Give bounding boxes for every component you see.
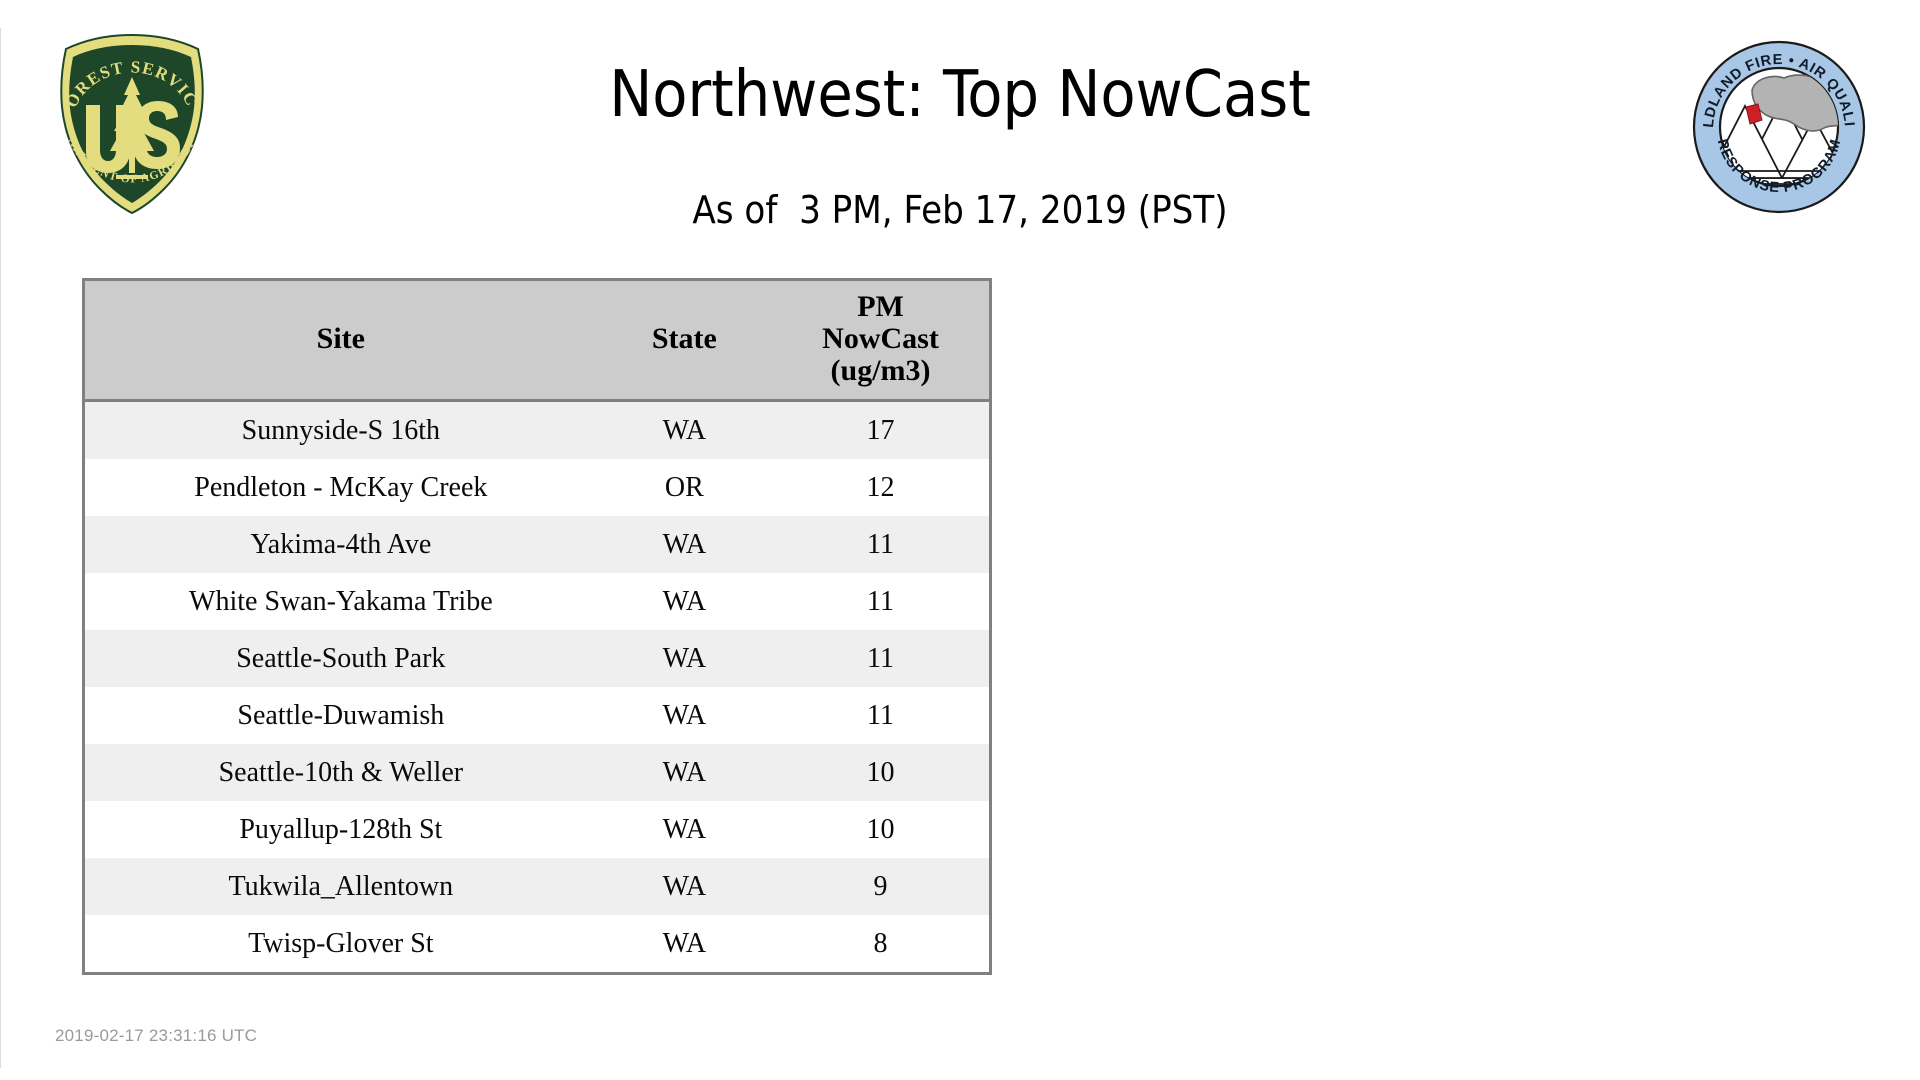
nowcast-table: Site State PM NowCast (ug/m3) Sunnyside-… (85, 281, 989, 972)
nowcast-table-container: Site State PM NowCast (ug/m3) Sunnyside-… (82, 278, 992, 975)
cell-state: WA (597, 858, 772, 915)
page-edge-line (0, 28, 1, 1068)
cell-pm-nowcast: 11 (772, 516, 989, 573)
table-row[interactable]: Puyallup-128th St WA 10 (85, 801, 989, 858)
table-row[interactable]: Seattle-Duwamish WA 11 (85, 687, 989, 744)
cell-site: Puyallup-128th St (85, 801, 597, 858)
table-row[interactable]: Seattle-South Park WA 11 (85, 630, 989, 687)
cell-pm-nowcast: 12 (772, 459, 989, 516)
cell-site: Seattle-10th & Weller (85, 744, 597, 801)
column-header-site-line-1: Site (85, 323, 597, 355)
cell-state: WA (597, 516, 772, 573)
cell-site: Seattle-Duwamish (85, 687, 597, 744)
table-row[interactable]: Twisp-Glover St WA 8 (85, 915, 989, 972)
cell-state: WA (597, 801, 772, 858)
cell-state: WA (597, 401, 772, 460)
column-header-pm-nowcast[interactable]: PM NowCast (ug/m3) (772, 281, 989, 401)
cell-state: WA (597, 915, 772, 972)
cell-site: Sunnyside-S 16th (85, 401, 597, 460)
cell-pm-nowcast: 11 (772, 687, 989, 744)
cell-site: Seattle-South Park (85, 630, 597, 687)
cell-state: WA (597, 573, 772, 630)
column-header-pm-nowcast-line-2: NowCast (772, 323, 989, 355)
cell-site: Pendleton - McKay Creek (85, 459, 597, 516)
cell-state: WA (597, 630, 772, 687)
cell-state: OR (597, 459, 772, 516)
usda-forest-service-shield-logo: FOREST SERVICE DEPARTMENT OF AGRICULTURE (52, 33, 212, 215)
cell-pm-nowcast: 17 (772, 401, 989, 460)
column-header-pm-nowcast-line-3: (ug/m3) (772, 355, 989, 387)
column-header-state-line-1: State (597, 323, 772, 355)
cell-pm-nowcast: 8 (772, 915, 989, 972)
table-row[interactable]: Tukwila_Allentown WA 9 (85, 858, 989, 915)
table-header-row: Site State PM NowCast (ug/m3) (85, 281, 989, 401)
column-header-site[interactable]: Site (85, 281, 597, 401)
cell-state: WA (597, 744, 772, 801)
wildland-fire-air-quality-response-program-logo: WILDLAND FIRE • AIR QUALITY RESPONSE PRO… (1690, 38, 1868, 216)
table-row[interactable]: Sunnyside-S 16th WA 17 (85, 401, 989, 460)
cell-pm-nowcast: 10 (772, 744, 989, 801)
column-header-pm-nowcast-line-1: PM (772, 291, 989, 323)
cell-state: WA (597, 687, 772, 744)
page-title: Northwest: Top NowCast (260, 58, 1660, 132)
table-header: Site State PM NowCast (ug/m3) (85, 281, 989, 401)
table-row[interactable]: Seattle-10th & Weller WA 10 (85, 744, 989, 801)
cell-pm-nowcast: 11 (772, 630, 989, 687)
cell-pm-nowcast: 11 (772, 573, 989, 630)
cell-pm-nowcast: 9 (772, 858, 989, 915)
cell-site: Twisp-Glover St (85, 915, 597, 972)
table-body: Sunnyside-S 16th WA 17 Pendleton - McKay… (85, 401, 989, 973)
footer-timestamp: 2019-02-17 23:31:16 UTC (55, 1026, 257, 1046)
column-header-state[interactable]: State (597, 281, 772, 401)
cell-site: Tukwila_Allentown (85, 858, 597, 915)
table-row[interactable]: Pendleton - McKay Creek OR 12 (85, 459, 989, 516)
page-subtitle-timestamp: As of 3 PM, Feb 17, 2019 (PST) (260, 188, 1660, 232)
table-row[interactable]: White Swan-Yakama Tribe WA 11 (85, 573, 989, 630)
table-row[interactable]: Yakima-4th Ave WA 11 (85, 516, 989, 573)
cell-site: Yakima-4th Ave (85, 516, 597, 573)
cell-site: White Swan-Yakama Tribe (85, 573, 597, 630)
cell-pm-nowcast: 10 (772, 801, 989, 858)
